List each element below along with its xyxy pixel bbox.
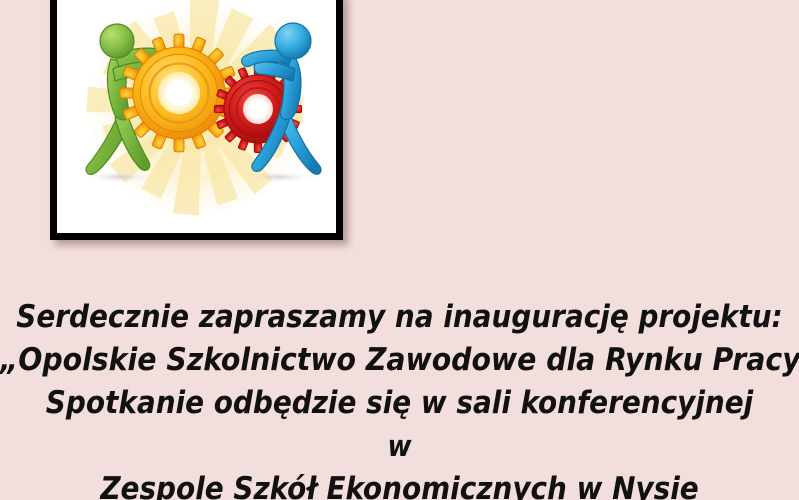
invitation-line-5: Zespole Szkół Ekonomicznych w Nysie bbox=[0, 468, 799, 500]
invitation-line-1: Serdecznie zapraszamy na inaugurację pro… bbox=[0, 296, 799, 339]
gears-teamwork-illustration bbox=[57, 0, 336, 233]
invitation-line-4: w bbox=[0, 425, 799, 468]
invitation-text-block: Serdecznie zapraszamy na inaugurację pro… bbox=[0, 296, 799, 500]
picture-frame bbox=[50, 0, 343, 240]
invitation-line-2: „Opolskie Szkolnictwo Zawodowe dla Rynku… bbox=[0, 339, 799, 382]
blue-person-shadow bbox=[241, 171, 317, 183]
invitation-line-3: Spotkanie odbędzie się w sali konferency… bbox=[0, 382, 799, 425]
slide-canvas: Serdecznie zapraszamy na inaugurację pro… bbox=[0, 0, 799, 500]
